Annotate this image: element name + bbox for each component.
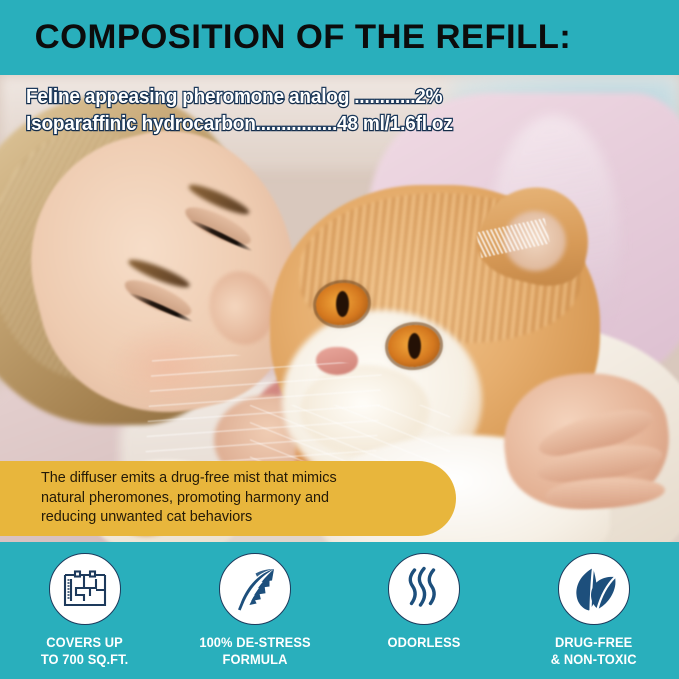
feature-label: ODORLESS (388, 634, 461, 651)
feature-label: DRUG-FREE & NON-TOXIC (551, 634, 637, 668)
feature-badge (219, 553, 291, 625)
callout-text: The diffuser emits a drug-free mist that… (0, 469, 371, 528)
feature-label: COVERS UP TO 700 SQ.FT. (41, 634, 128, 668)
feather-icon (231, 565, 279, 613)
feature-badge (558, 553, 630, 625)
vapor-waves-icon (403, 565, 445, 613)
feature-drug-free-non-toxic: DRUG-FREE & NON-TOXIC (514, 553, 674, 668)
feature-badge (49, 553, 121, 625)
feature-strip: COVERS UP TO 700 SQ.FT. 100% DE-STRESS (0, 542, 679, 679)
feature-covers-up-to-700-sqft: COVERS UP TO 700 SQ.FT. (5, 553, 165, 668)
leaves-icon (569, 565, 619, 613)
floor-plan-icon (62, 568, 108, 610)
feature-100-percent-de-stress-formula: 100% DE-STRESS FORMULA (175, 553, 335, 668)
cat-pupil-right (408, 333, 421, 359)
product-infographic: COMPOSITION OF THE REFILL: (0, 0, 679, 679)
composition-text-block: Feline appeasing pheromone analog ......… (26, 84, 586, 138)
cat-pupil-left (336, 291, 349, 317)
composition-line-1: Feline appeasing pheromone analog ......… (26, 84, 558, 111)
feature-odorless: ODORLESS (344, 553, 504, 651)
callout-banner: The diffuser emits a drug-free mist that… (0, 461, 456, 536)
composition-line-2: Isoparaffinic hydrocarbon...............… (26, 111, 558, 138)
header-band: COMPOSITION OF THE REFILL: (0, 0, 679, 75)
hero-photo: Feline appeasing pheromone analog ......… (0, 75, 679, 542)
feature-badge (388, 553, 460, 625)
page-title: COMPOSITION OF THE REFILL: (0, 18, 571, 57)
feature-label: 100% DE-STRESS FORMULA (199, 634, 310, 668)
